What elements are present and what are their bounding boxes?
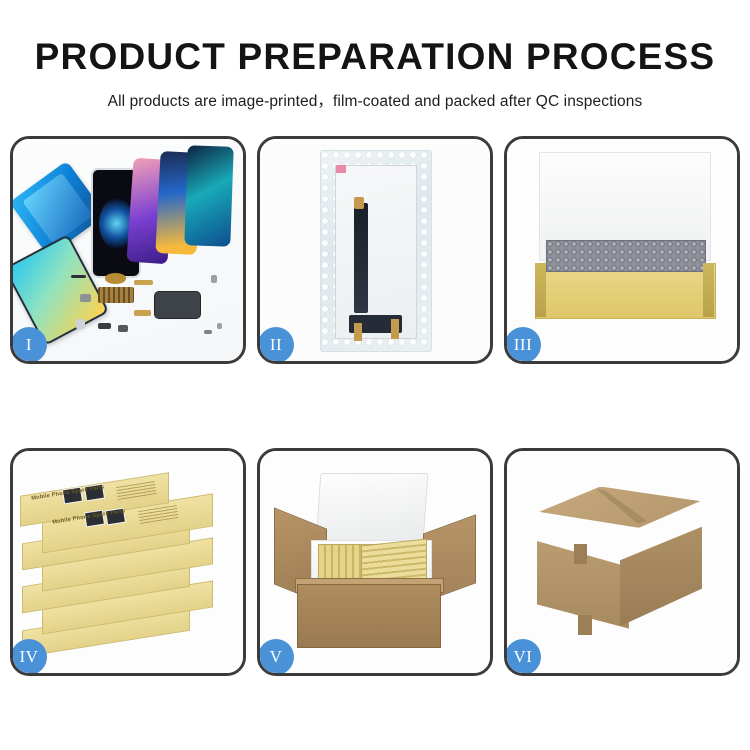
step-badge-5: V <box>258 639 294 675</box>
kraft-tray-right-wall <box>703 263 715 316</box>
part-circuit-board <box>98 287 134 303</box>
part-small-1 <box>71 275 86 279</box>
step-badge-4: IV <box>11 639 47 675</box>
part-flex-cable-2 <box>134 310 151 315</box>
step-badge-6: VI <box>505 639 541 675</box>
step-panel-2: II <box>257 136 493 364</box>
step-card-3: III <box>504 136 740 364</box>
header: PRODUCT PREPARATION PROCESS All products… <box>0 0 750 111</box>
gold-contact-2 <box>354 323 362 341</box>
part-small-8 <box>204 330 212 334</box>
kraft-tray <box>535 263 716 318</box>
step-card-4: Mobile Phone Spare Parts Mobile Phone Sp… <box>10 448 246 676</box>
step-card-1: I <box>10 136 246 364</box>
step-panel-3: III <box>504 136 740 364</box>
part-chip <box>105 273 127 284</box>
phone-screen-teal <box>184 145 233 246</box>
lcd-screen <box>335 165 416 339</box>
step-panel-5: V <box>257 448 493 676</box>
part-small-6 <box>211 275 218 283</box>
spare-parts-cluster <box>68 268 234 357</box>
step-photo-phone-parts <box>13 139 243 361</box>
step-badge-2: II <box>258 327 294 363</box>
part-small-3 <box>76 319 84 329</box>
pink-label-sticker <box>336 165 346 173</box>
step-badge-1: I <box>11 327 47 363</box>
step-panel-6: VI <box>504 448 740 676</box>
steps-grid: I II <box>10 136 740 688</box>
carton-tab-1 <box>574 544 588 564</box>
step-photo-sealed-carton <box>507 451 737 673</box>
foam-box-lid <box>315 473 428 542</box>
step-card-6: VI <box>504 448 740 676</box>
step-badge-3: III <box>505 327 541 363</box>
carton-body <box>297 584 442 648</box>
step-panel-1: I <box>10 136 246 364</box>
part-small-2 <box>80 294 92 302</box>
part-small-4 <box>98 323 111 329</box>
gold-contact-1 <box>354 197 364 209</box>
part-small-5 <box>118 325 128 332</box>
step-photo-foam-box-in-carton <box>260 451 490 673</box>
page-subtitle: All products are image-printed，film-coat… <box>0 78 750 111</box>
part-back-housing <box>154 291 201 319</box>
carton-side-face <box>620 526 703 626</box>
kraft-tray-left-wall <box>535 263 547 316</box>
bubble-wrap-bag <box>320 150 432 352</box>
step-photo-stacked-retail-boxes: Mobile Phone Spare Parts Mobile Phone Sp… <box>13 451 243 673</box>
step-panel-4: Mobile Phone Spare Parts Mobile Phone Sp… <box>10 448 246 676</box>
step-photo-bubble-wrapped-screen <box>260 139 490 361</box>
carton-tab-2 <box>578 615 592 635</box>
lcd-flex-cable <box>354 203 368 313</box>
product-preparation-infographic: PRODUCT PREPARATION PROCESS All products… <box>0 0 750 750</box>
step-photo-kraft-box-with-foam <box>507 139 737 361</box>
gold-contact-3 <box>391 319 399 339</box>
step-card-5: V <box>257 448 493 676</box>
box-stack: Mobile Phone Spare Parts Mobile Phone Sp… <box>20 467 236 658</box>
page-title: PRODUCT PREPARATION PROCESS <box>0 0 750 78</box>
step-card-2: II <box>257 136 493 364</box>
part-flex-cable-1 <box>134 280 152 284</box>
part-small-7 <box>217 323 222 329</box>
